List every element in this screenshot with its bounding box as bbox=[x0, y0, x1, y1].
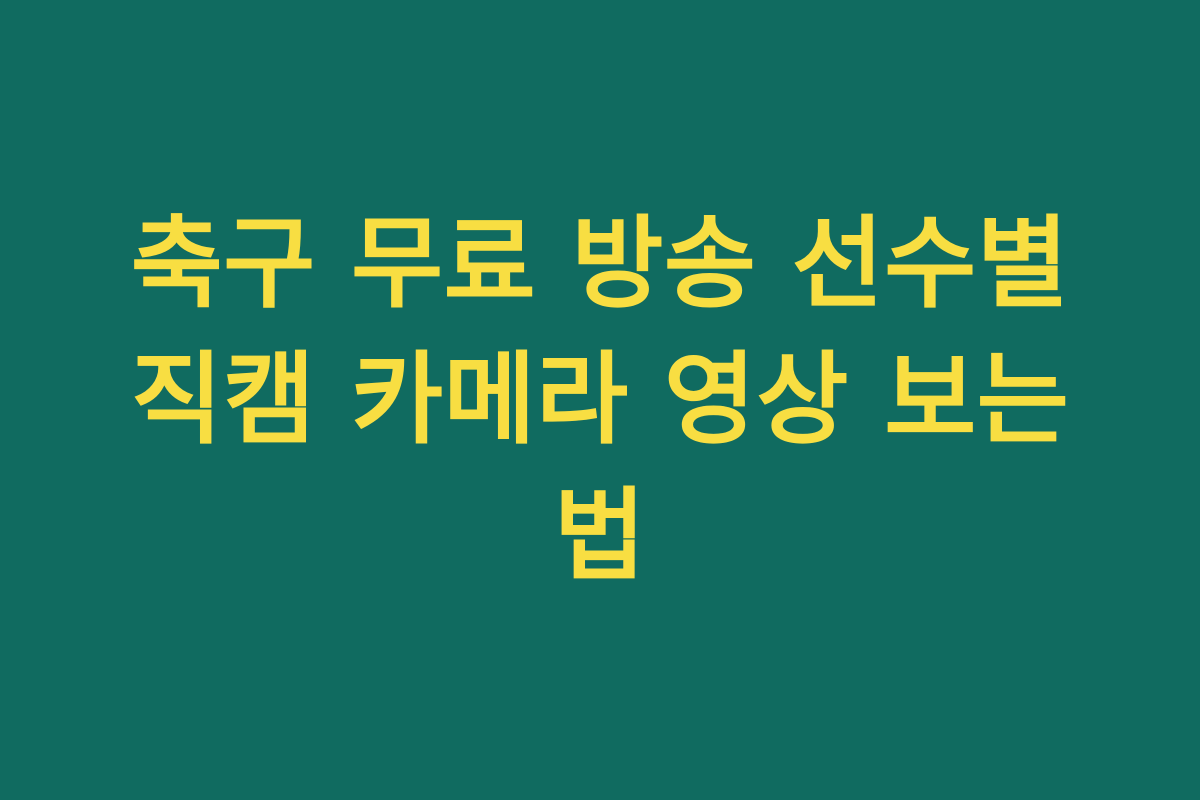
title-line-2: 직캠 카메라 영상 보는 bbox=[114, 332, 1086, 468]
title-line-3: 법 bbox=[114, 468, 1086, 604]
title-line-1: 축구 무료 방송 선수별 bbox=[114, 196, 1086, 332]
banner-canvas: 축구 무료 방송 선수별 직캠 카메라 영상 보는 법 bbox=[0, 0, 1200, 800]
page-title: 축구 무료 방송 선수별 직캠 카메라 영상 보는 법 bbox=[110, 196, 1090, 604]
